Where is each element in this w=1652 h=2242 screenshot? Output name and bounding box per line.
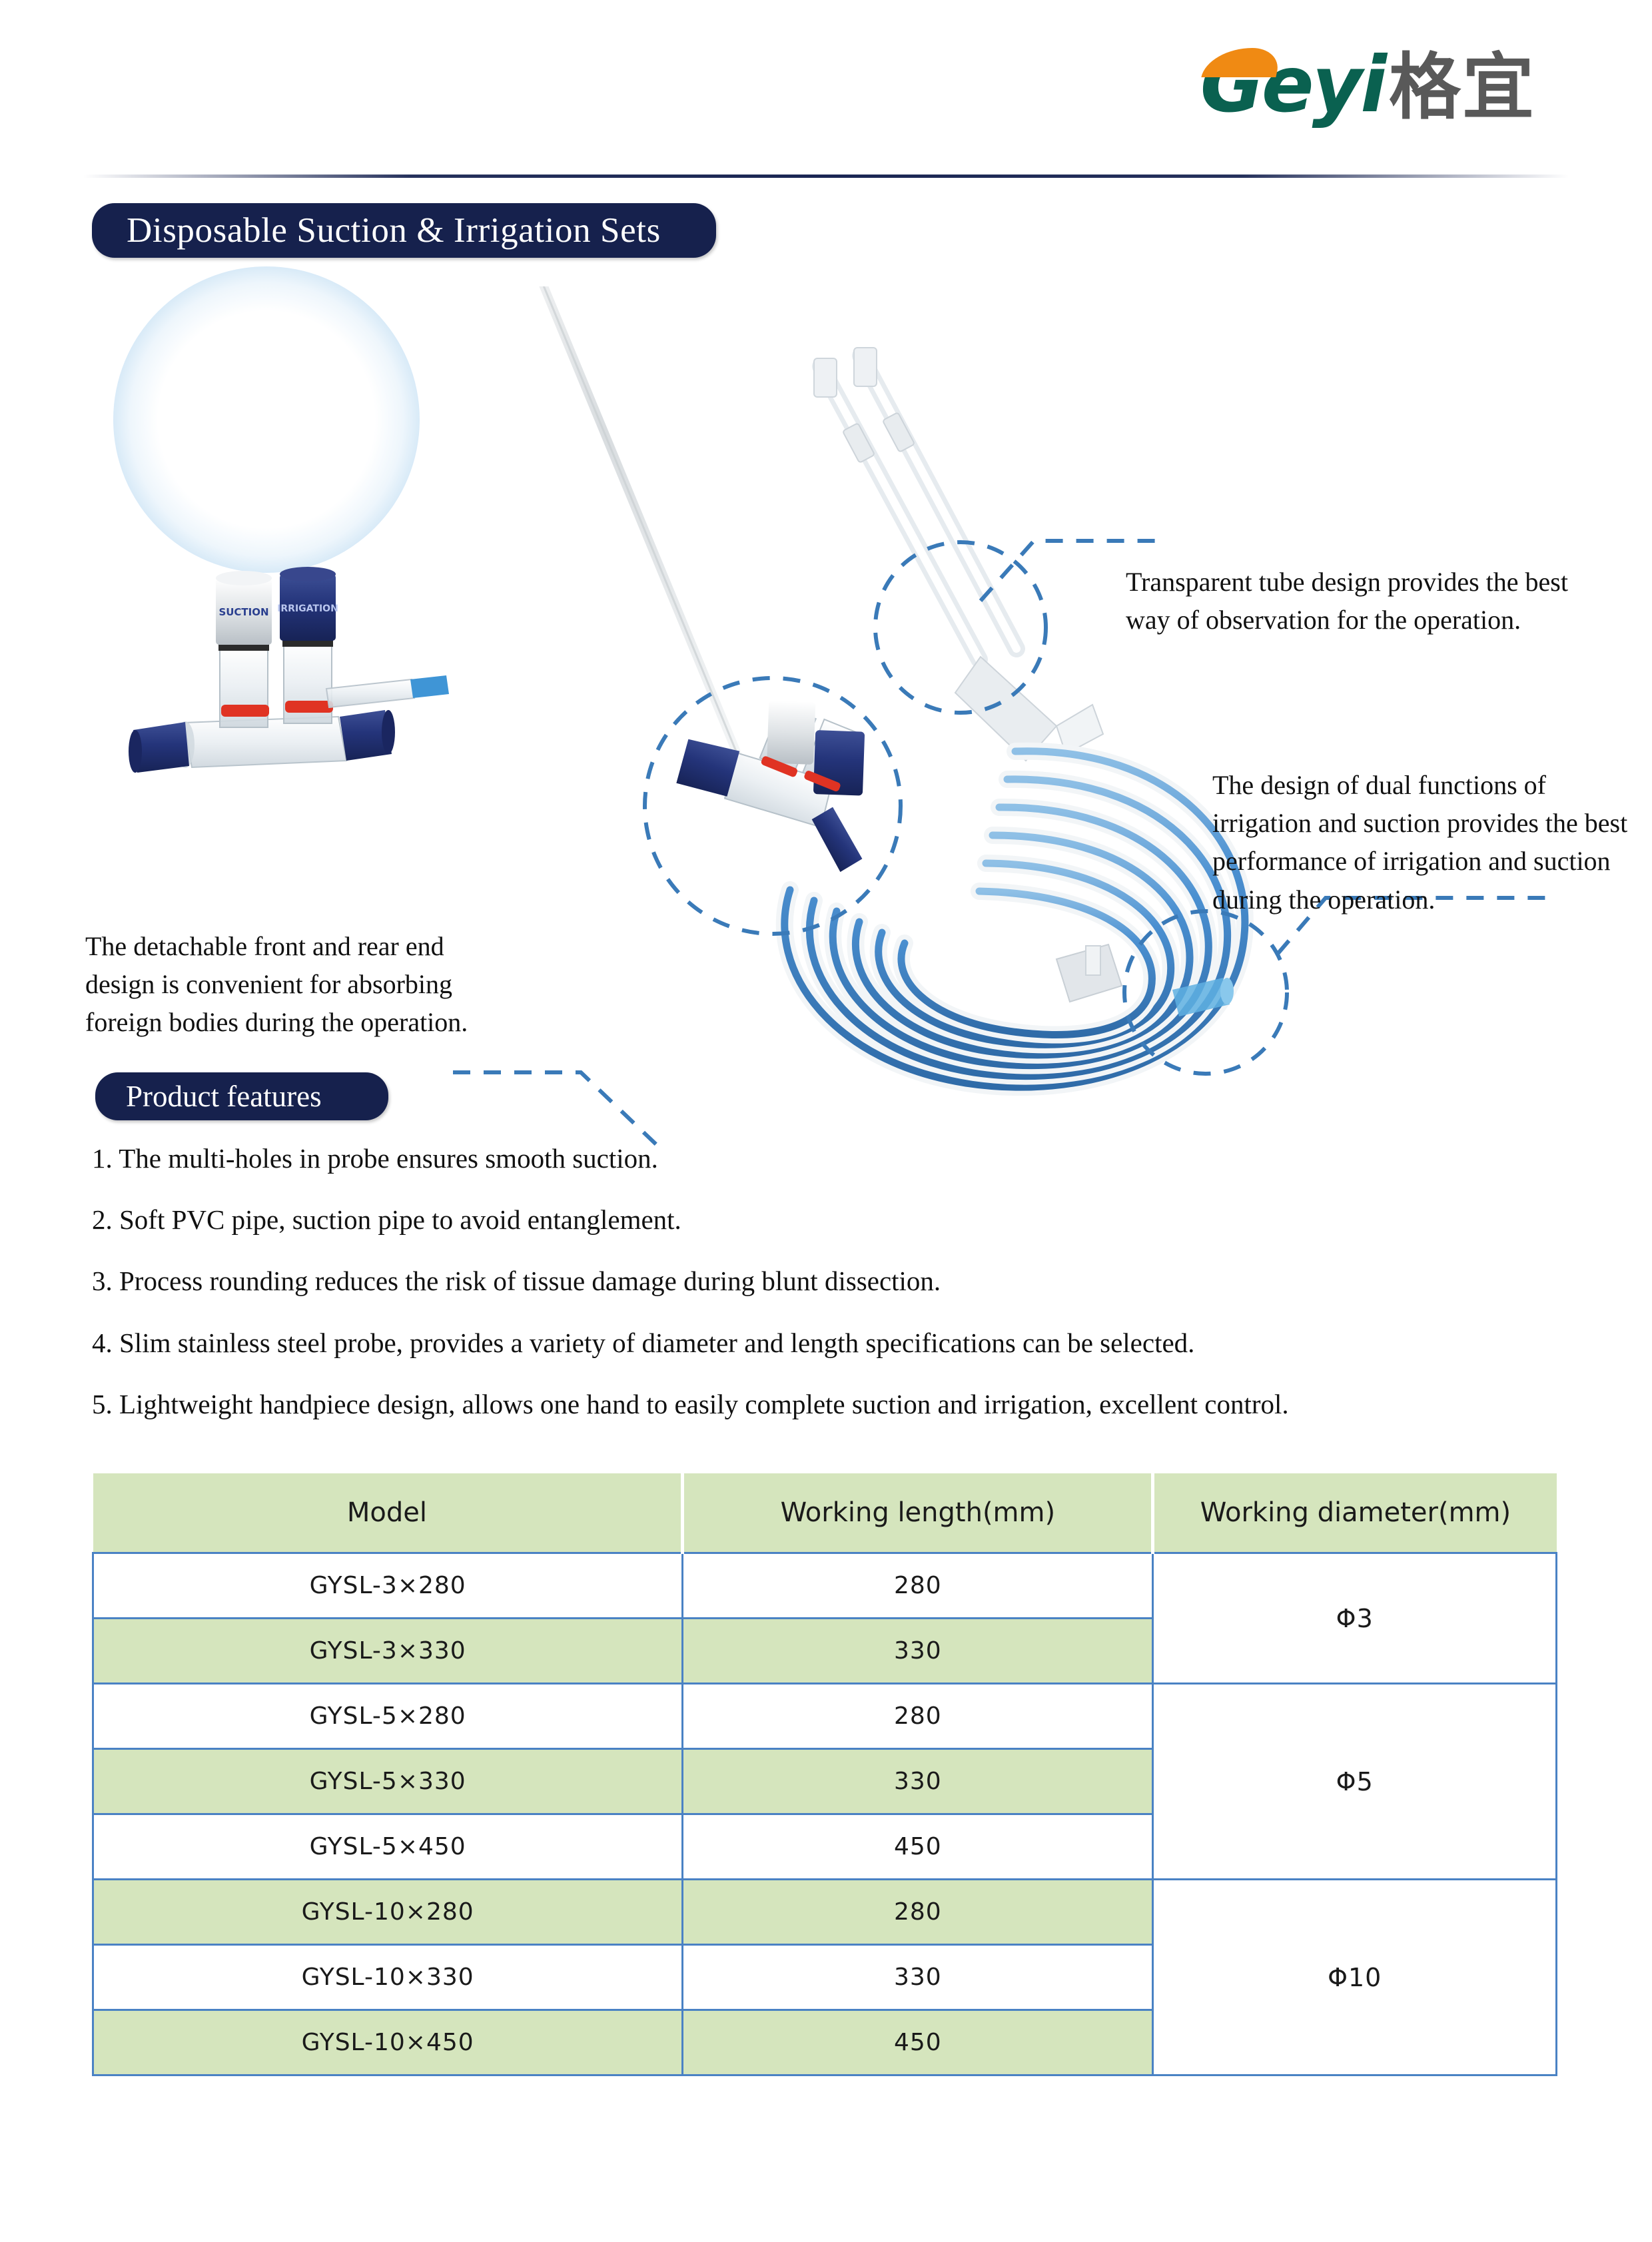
- cell-model: GYSL-5×330: [93, 1749, 683, 1814]
- feature-item: 2. Soft PVC pipe, suction pipe to avoid …: [92, 1204, 1491, 1236]
- distal-connector: [1172, 978, 1234, 1016]
- cell-length: 330: [683, 1945, 1153, 2010]
- cell-length: 330: [683, 1619, 1153, 1684]
- cell-model: GYSL-10×450: [93, 2010, 683, 2075]
- table-row: GYSL-3×280 280 Φ3: [93, 1553, 1557, 1619]
- product-features-heading-text: Product features: [126, 1079, 322, 1114]
- handpiece-inset-art: SUCTION IRRIGATION: [129, 567, 449, 773]
- product-features-list: 1. The multi-holes in probe ensures smoo…: [92, 1142, 1491, 1449]
- cell-length: 450: [683, 1814, 1153, 1880]
- leader-circle-dual: [1124, 911, 1287, 1074]
- main-handpiece: [663, 663, 915, 881]
- table-row: GYSL-5×280 280 Φ5: [93, 1684, 1557, 1749]
- inset-label-suction: SUCTION: [218, 606, 268, 618]
- cell-length: 330: [683, 1749, 1153, 1814]
- cell-diameter: Φ3: [1153, 1553, 1557, 1684]
- cell-model: GYSL-10×280: [93, 1880, 683, 1945]
- leader-circle-handpiece: [645, 678, 901, 934]
- handpiece-inset-glow: [113, 266, 420, 573]
- specification-table: Model Working length(mm) Working diamete…: [92, 1473, 1557, 2076]
- brand-logo: Geyi 格宜: [1200, 47, 1535, 124]
- callout-dual-function: The design of dual functions of irrigati…: [1212, 766, 1632, 919]
- cell-length: 280: [683, 1553, 1153, 1619]
- coiled-tubing: [785, 751, 1245, 1087]
- callout-transparent-tube: Transparent tube design provides the bes…: [1126, 563, 1592, 639]
- brand-name-chinese: 格宜: [1389, 52, 1535, 124]
- feature-item: 3. Process rounding reduces the risk of …: [92, 1265, 1491, 1298]
- cell-model: GYSL-3×330: [93, 1619, 683, 1684]
- cell-length: 280: [683, 1684, 1153, 1749]
- cell-length: 450: [683, 2010, 1153, 2075]
- feature-item: 1. The multi-holes in probe ensures smoo…: [92, 1142, 1491, 1175]
- cell-model: GYSL-3×280: [93, 1553, 683, 1619]
- column-header-model: Model: [93, 1473, 683, 1553]
- inset-label-irrigation: IRRIGATION: [277, 603, 338, 614]
- tube-clamp: [1056, 944, 1122, 1002]
- leader-circle-tubes: [875, 542, 1046, 713]
- tube-manifold: [955, 657, 1103, 761]
- leader-line-detachable: [453, 1072, 673, 1146]
- cell-length: 280: [683, 1880, 1153, 1945]
- brand-name-latin: Geyi: [1200, 47, 1385, 124]
- feature-item: 4. Slim stainless steel probe, provides …: [92, 1327, 1491, 1359]
- column-header-diameter: Working diameter(mm): [1153, 1473, 1557, 1553]
- cell-model: GYSL-5×280: [93, 1684, 683, 1749]
- cell-diameter: Φ5: [1153, 1684, 1557, 1880]
- column-header-length: Working length(mm): [683, 1473, 1153, 1553]
- header-divider: [83, 175, 1569, 178]
- table-row: GYSL-10×280 280 Φ10: [93, 1880, 1557, 1945]
- callout-detachable-ends: The detachable front and rear end design…: [85, 927, 472, 1042]
- page-title: Disposable Suction & Irrigation Sets: [92, 203, 716, 258]
- page-title-text: Disposable Suction & Irrigation Sets: [127, 210, 661, 250]
- probe-shaft: [491, 286, 739, 759]
- cell-model: GYSL-5×450: [93, 1814, 683, 1880]
- table-header-row: Model Working length(mm) Working diamete…: [93, 1473, 1557, 1553]
- feature-item: 5. Lightweight handpiece design, allows …: [92, 1388, 1491, 1421]
- transparent-twin-tubes: [814, 348, 1017, 659]
- product-features-heading: Product features: [95, 1072, 388, 1120]
- cell-model: GYSL-10×330: [93, 1945, 683, 2010]
- cell-diameter: Φ10: [1153, 1880, 1557, 2075]
